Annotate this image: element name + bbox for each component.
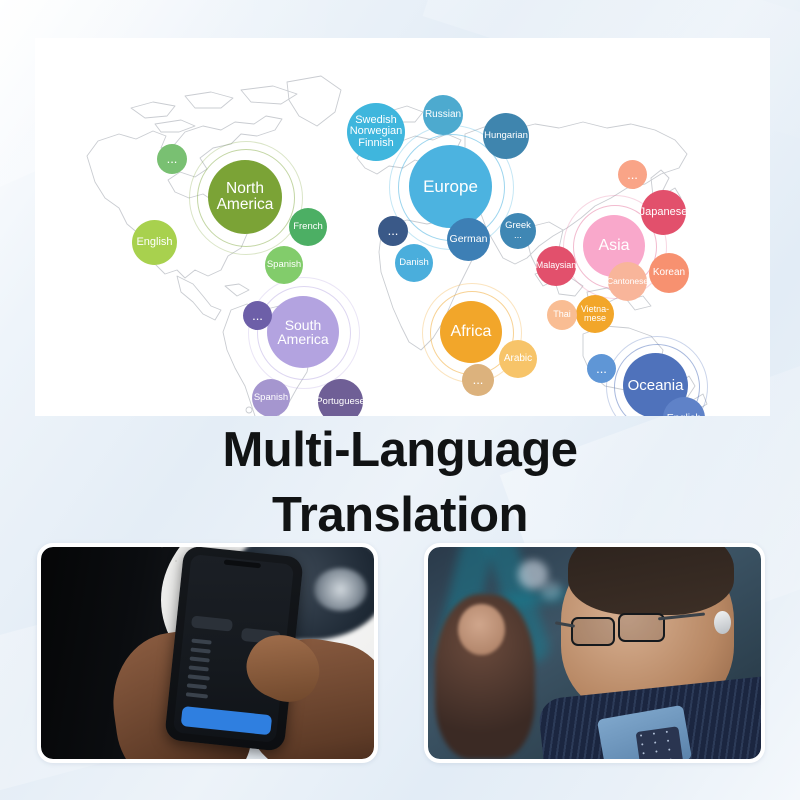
bubble-eu-danish-label: Danish	[397, 258, 431, 268]
photo-app-primary-button	[180, 706, 272, 735]
photo-tie-dot	[643, 753, 645, 755]
bubble-south-america: SouthAmerica	[267, 296, 339, 368]
bubble-as-thai-label: Thai	[551, 310, 573, 319]
bubble-oceania-label: Oceania	[626, 378, 686, 393]
bubble-eu-hungarian: Hungarian	[483, 113, 529, 159]
bubble-as-japanese-label: Japanese	[638, 207, 690, 218]
bubble-na-dots-label: ...	[165, 152, 180, 165]
photo-tie-dot	[666, 731, 668, 733]
photo-background-person-face	[458, 604, 505, 655]
photo-table-speck	[161, 547, 163, 548]
bubble-north-america: NorthAmerica	[208, 160, 282, 234]
bubble-eu-dots-label: ...	[386, 224, 401, 237]
photo-tie-dot	[655, 751, 657, 753]
photo-app-list-row	[187, 675, 210, 681]
photo-tie-dot	[670, 758, 672, 759]
bubble-as-japanese: Japanese	[641, 190, 686, 235]
bubble-eu-danish: Danish	[395, 244, 433, 282]
bubble-eu-nordic-label: SwedishNorwegianFinnish	[348, 115, 405, 149]
bubble-na-english-label: English	[134, 237, 174, 248]
bubble-af-arabic-label: Arabic	[502, 354, 534, 364]
bubble-south-america-label: SouthAmerica	[275, 318, 330, 347]
photo-app-list-row	[187, 683, 208, 689]
bubble-as-vietnamese-label: Vietna-mese	[579, 305, 611, 323]
photo-app-list-row	[191, 639, 212, 645]
photo-table-speck	[175, 560, 177, 562]
bubble-as-dots-label: ...	[625, 168, 640, 181]
bubble-africa-label: Africa	[449, 324, 494, 340]
bubble-na-spanish: Spanish	[265, 246, 303, 284]
bubble-na-spanish-label: Spanish	[265, 260, 303, 270]
photo-tie-dot	[653, 733, 655, 735]
bubble-oc-dots: ...	[587, 354, 616, 383]
bubble-eu-nordic: SwedishNorwegianFinnish	[347, 103, 405, 161]
poster-root: NorthAmerica...EnglishFrenchSpanishSouth…	[0, 0, 800, 800]
bubble-sa-dots-label: ...	[250, 309, 265, 322]
photo-phone-translation-app	[37, 543, 378, 763]
photo-tie-dot	[654, 742, 656, 744]
bubble-asia-label: Asia	[596, 238, 631, 254]
photo-tie-dot	[640, 735, 642, 737]
bubble-africa: Africa	[440, 301, 502, 363]
page-title-line-1: Multi-Language	[222, 423, 577, 477]
bubble-sa-portuguese-label: Portuguese	[314, 397, 367, 407]
bubble-as-thai: Thai	[547, 300, 577, 330]
photo-app-list-row	[188, 666, 209, 672]
bubble-europe: Europe	[409, 145, 492, 228]
bubble-as-vietnamese: Vietna-mese	[576, 295, 614, 333]
bubble-as-korean-label: Korean	[651, 268, 687, 278]
bubble-na-english: English	[132, 220, 177, 265]
bubble-eu-hungarian-label: Hungarian	[482, 131, 530, 141]
bubble-sa-portuguese: Portuguese	[318, 379, 363, 416]
photo-phone-notch	[224, 560, 261, 568]
photo-wireless-earpiece	[714, 611, 731, 634]
photo-car-headlight	[314, 568, 367, 610]
photo-app-list-row	[189, 657, 210, 663]
bubble-na-french-label: French	[291, 222, 325, 232]
photo-tie-dot	[641, 744, 643, 746]
bubble-eu-german-label: German	[448, 234, 490, 245]
bubble-af-dots: ...	[462, 364, 494, 396]
bubble-eu-german: German	[447, 218, 490, 261]
photo-glasses-left-lens	[571, 617, 615, 646]
bubble-north-america-label: NorthAmerica	[215, 181, 276, 213]
photo-tie-dot	[668, 749, 670, 751]
photo-app-source-field	[191, 615, 233, 632]
bubble-as-korean: Korean	[649, 253, 689, 293]
bubble-af-arabic: Arabic	[499, 340, 537, 378]
photo-bokeh	[541, 581, 561, 600]
bubble-as-dots: ...	[618, 160, 647, 189]
page-title-line-2: Translation	[0, 483, 800, 548]
bubble-eu-dots: ...	[378, 216, 408, 246]
photo-app-list-row	[186, 692, 209, 698]
world-map-panel: NorthAmerica...EnglishFrenchSpanishSouth…	[35, 38, 770, 416]
bubble-sa-spanish: Spanish	[252, 379, 290, 416]
photo-tie-dot	[667, 740, 669, 742]
bubble-oc-dots-label: ...	[594, 362, 609, 375]
bubble-as-cantonese-label: Cantonese	[605, 277, 650, 286]
bubble-sa-dots: ...	[243, 301, 272, 330]
photo-app-list-row	[190, 648, 211, 654]
bubble-as-malaysian: Malaysian	[536, 246, 576, 286]
bubble-sa-spanish-label: Spanish	[252, 393, 290, 403]
bubble-na-french: French	[289, 208, 327, 246]
bubble-na-dots: ...	[157, 144, 187, 174]
bubble-eu-greek: Greek...	[500, 213, 536, 249]
photo-man-tie	[635, 726, 683, 759]
bubble-eu-greek-label: Greek...	[503, 221, 533, 240]
bubble-eu-russian-label: Russian	[423, 110, 463, 120]
bubble-europe-label: Europe	[421, 178, 480, 195]
bubble-oc-english-label: English	[665, 413, 703, 416]
photo-man-hair	[568, 547, 735, 615]
bubble-as-malaysian-label: Malaysian	[534, 261, 579, 270]
bubble-af-dots-label: ...	[471, 373, 486, 386]
photo-businessman-earpiece	[424, 543, 765, 763]
page-title: Multi-Language Translation	[0, 418, 800, 547]
bubble-eu-russian: Russian	[423, 95, 463, 135]
bubble-as-cantonese: Cantonese	[608, 262, 647, 301]
